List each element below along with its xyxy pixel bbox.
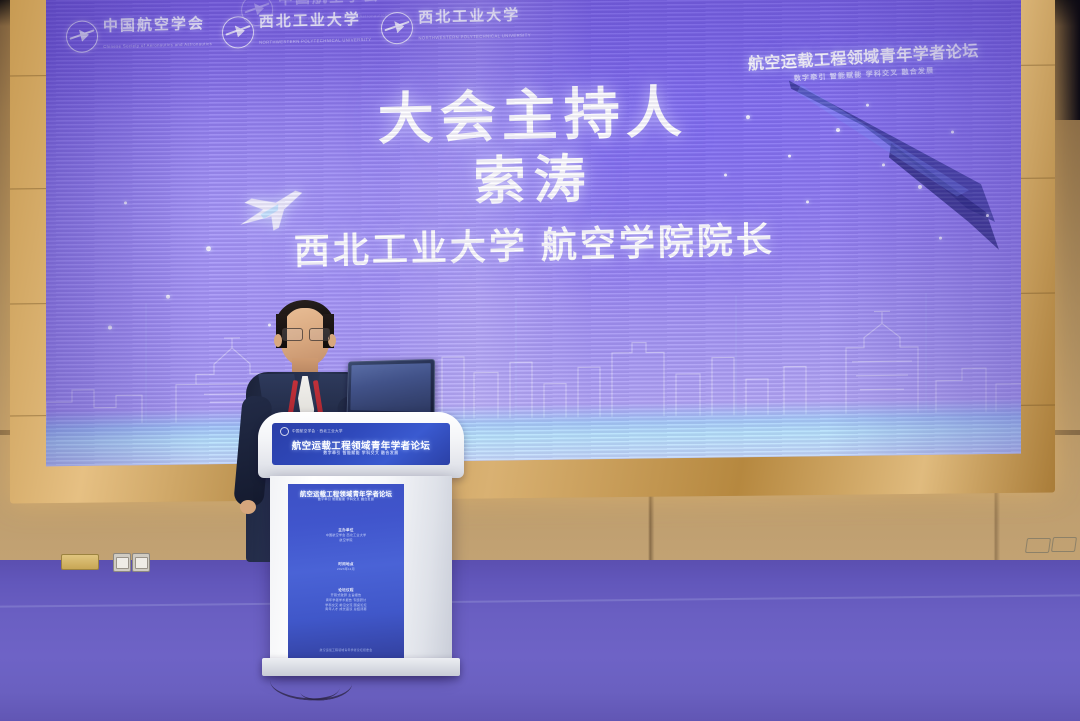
podium-front-panel: 航空运载工程领域青年学者论坛 数字牵引 智能赋能 学科交叉 融合发展 主办单位 …: [288, 484, 404, 660]
ear-left: [274, 334, 282, 347]
panel-section-1: 主办单位 中国航空学会 西北工业大学 航空学院: [288, 528, 404, 543]
panel-header-sub: 数字牵引 智能赋能 学科交叉 融合发展: [288, 497, 404, 501]
logo-en-label: NORTHWESTERN POLYTECHNICAL UNIVERSITY: [259, 37, 372, 45]
power-socket-1: [113, 553, 131, 572]
logo-npu-2: 西北工业大学 NORTHWESTERN POLYTECHNICAL UNIVER…: [381, 8, 531, 46]
panel-section-2: 时间地点 2023年11月: [288, 562, 404, 572]
led-screen: 中国航空学会 Chinese Society of Aeronautics an…: [46, 0, 1021, 466]
logo-npu-1: 西北工业大学 NORTHWESTERN POLYTECHNICAL UNIVER…: [222, 12, 372, 50]
glasses-icon: [282, 328, 328, 340]
podium-banner: 中国航空学会 · 西北工业大学 航空运载工程领域青年学者论坛 数字牵引 智能赋能…: [272, 423, 450, 465]
laptop-screen: [350, 363, 430, 412]
podium-banner-subtitle: 数字牵引 智能赋能 学科交叉 融合发展: [272, 451, 450, 456]
power-socket-2: [132, 553, 150, 572]
panel-section-lines: 中国航空学会 西北工业大学 航空学院: [288, 533, 404, 543]
podium-body: 航空运载工程领域青年学者论坛 数字牵引 智能赋能 学科交叉 融合发展 主办单位 …: [270, 476, 452, 674]
podium-top: 中国航空学会 · 西北工业大学 航空运载工程领域青年学者论坛 数字牵引 智能赋能…: [258, 412, 464, 478]
cable-tray: [61, 554, 99, 570]
logo-row: 中国航空学会 Chinese Society of Aeronautics an…: [66, 0, 627, 68]
headline-block: 大会主持人 索涛 西北工业大学 航空学院院长: [46, 74, 1021, 280]
panel-section-3: 论坛议程 开幕式致辞 主旨报告 青年学者学术报告 专题研讨 学科交叉 前沿交流 …: [288, 588, 404, 612]
stage-floor: [0, 560, 1080, 721]
presenter-laptop[interactable]: [347, 359, 435, 417]
logo-cn-label: 西北工业大学: [418, 7, 520, 27]
logo-cn-label: 中国航空学会: [103, 15, 205, 35]
presenter-affiliation: 西北工业大学 航空学院院长: [47, 212, 1021, 280]
logo-cn-label: 西北工业大学: [259, 11, 361, 31]
logo-en-label: Chinese Society of Aeronautics and Astro…: [103, 41, 212, 49]
stage-monitor-2: [1051, 537, 1077, 552]
panel-section-lines: 2023年11月: [288, 567, 404, 572]
stage-monitor-1: [1025, 538, 1051, 553]
logo-csaa: 中国航空学会 Chinese Society of Aeronautics an…: [66, 16, 212, 54]
conference-stage-photo: 中国航空学会 Chinese Society of Aeronautics an…: [0, 0, 1080, 721]
logo-en-label: NORTHWESTERN POLYTECHNICAL UNIVERSITY: [418, 32, 531, 40]
panel-footer: 航空运载工程领域青年学者论坛组委会: [288, 648, 404, 652]
npu-circle-logo-icon: [222, 16, 254, 49]
aircraft-circle-logo-icon: [280, 427, 289, 436]
hand-left: [240, 500, 256, 514]
podium-banner-title: 航空运载工程领域青年学者论坛: [272, 438, 450, 452]
podium-banner-org-row: 中国航空学会 · 西北工业大学: [280, 427, 343, 436]
npu-circle-logo-icon: [381, 12, 413, 45]
aircraft-circle-logo-icon: [66, 20, 98, 53]
podium-banner-org: 中国航空学会 · 西北工业大学: [292, 429, 343, 434]
podium: 中国航空学会 · 西北工业大学 航空运载工程领域青年学者论坛 数字牵引 智能赋能…: [258, 412, 464, 674]
panel-section-lines: 开幕式致辞 主旨报告 青年学者学术报告 专题研讨 学科交叉 前沿交流 圆桌论坛 …: [288, 593, 404, 612]
